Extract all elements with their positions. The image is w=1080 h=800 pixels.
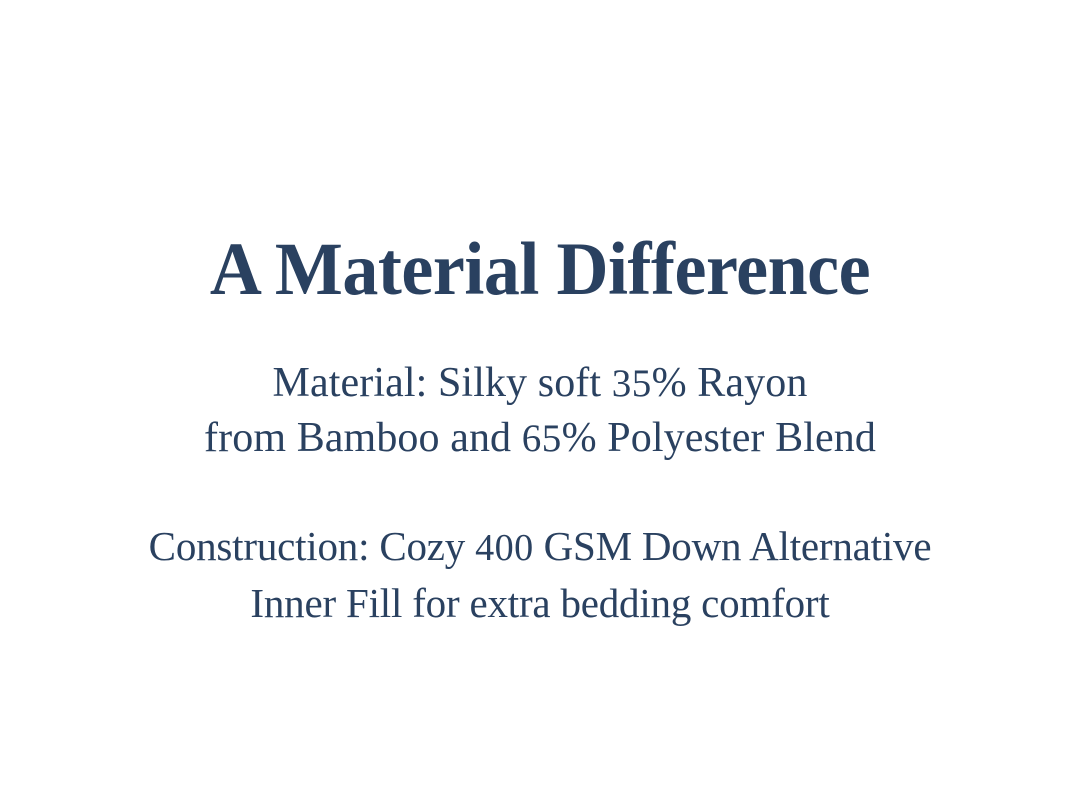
slide-canvas: A Material Difference Material: Silky so… [0,0,1080,800]
paragraph-material: Material: Silky soft 35% Rayon from Bamb… [0,356,1080,466]
numeral: 65 [522,417,562,460]
paragraph-construction: Construction: Cozy 400 GSM Down Alternat… [0,519,1080,631]
construction-line-1: Construction: Cozy 400 GSM Down Alternat… [0,519,1080,576]
page-title: A Material Difference [22,232,1059,307]
material-line-2: from Bamboo and 65% Polyester Blend [0,411,1080,466]
body-copy-block: Material: Silky soft 35% Rayon from Bamb… [0,356,1080,631]
paragraph-spacer [0,466,1080,519]
numeral: 35 [612,362,652,405]
construction-line-2: Inner Fill for extra bedding comfort [0,576,1080,631]
numeral: 400 [475,527,533,569]
material-line-1: Material: Silky soft 35% Rayon [0,356,1080,411]
